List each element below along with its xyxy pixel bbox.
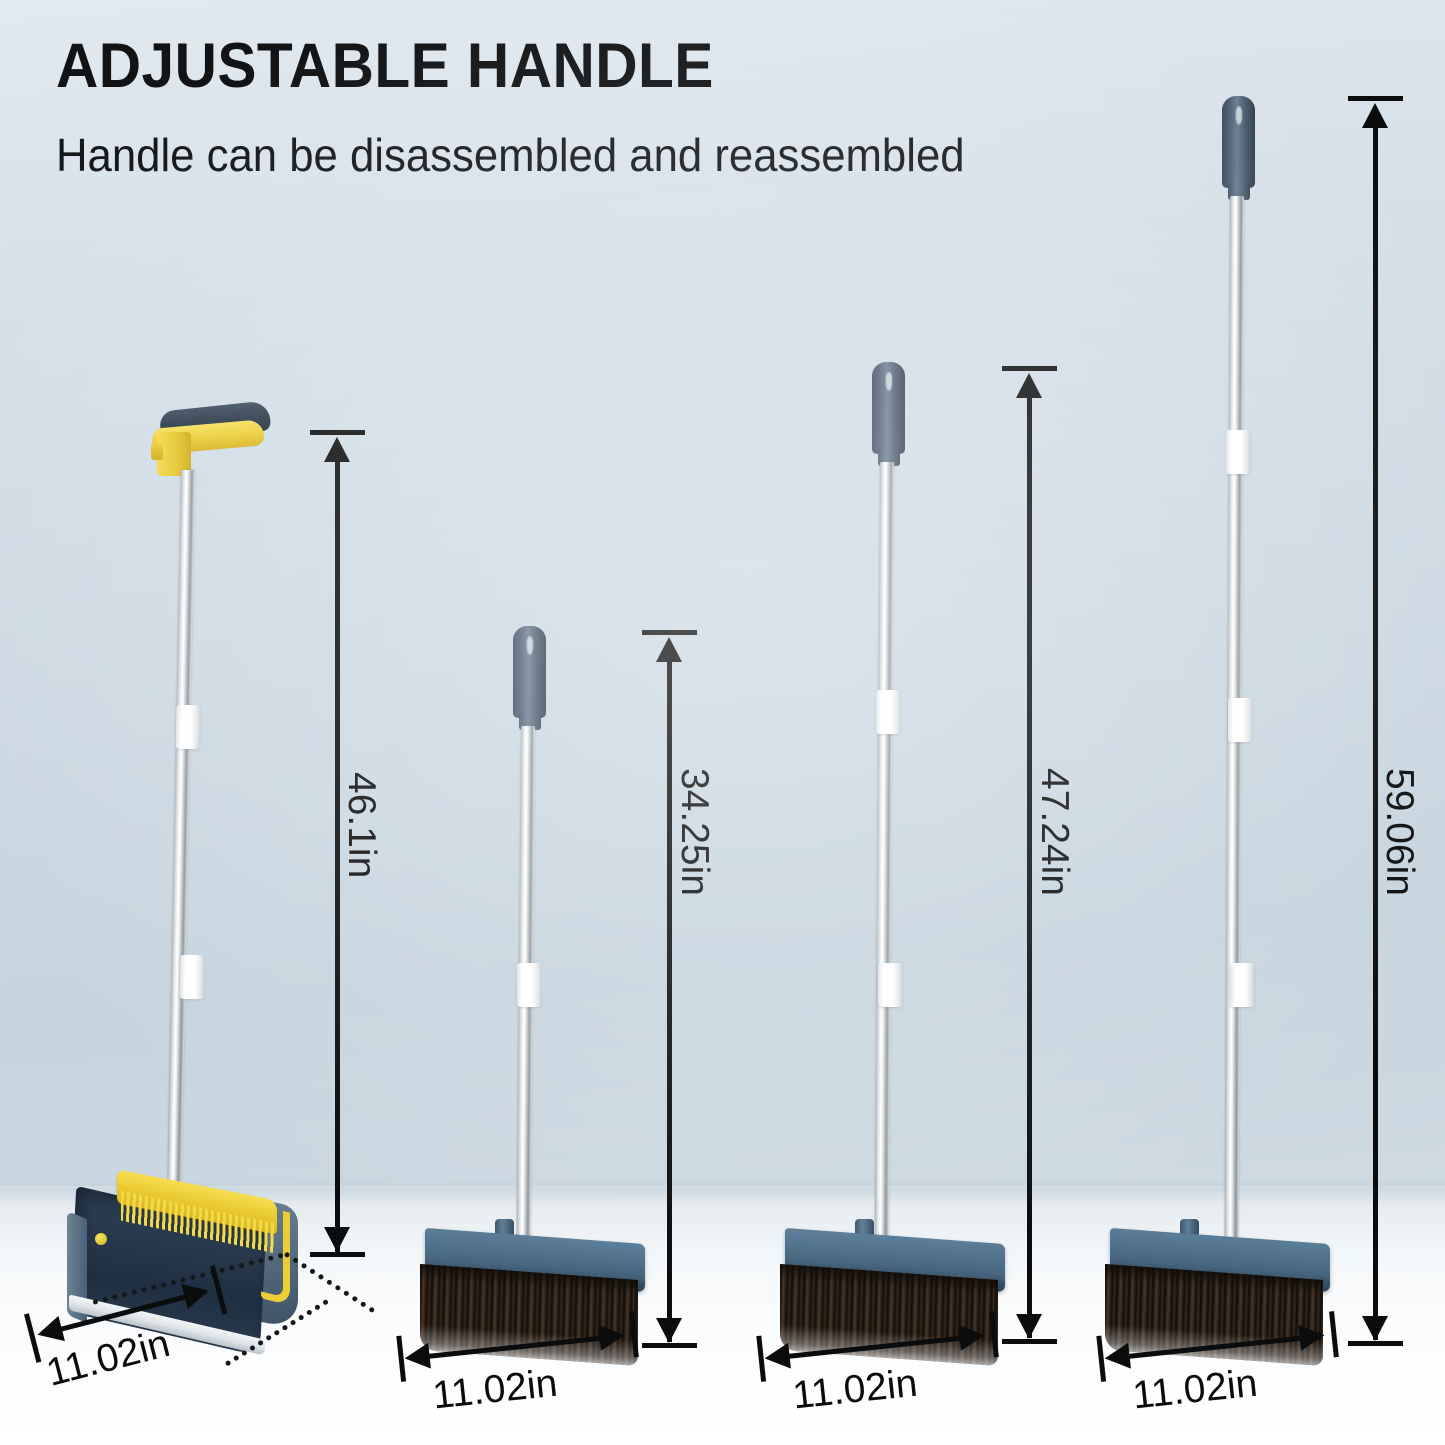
dimension-label-height-dustpan: 46.1in [339,772,383,878]
broom-short-grip [513,626,546,718]
dustpan-knob [95,1233,107,1245]
dimension-label-height-broom-medium: 47.24in [1032,768,1076,896]
broom-medium-pole-collar-2 [878,963,902,1007]
broom-tall-bristles [1105,1264,1323,1366]
broom-tall-pole-collar-1 [1226,430,1250,474]
broom-medium-grip [872,362,905,454]
dustpan-pole-collar-2 [180,955,205,999]
broom-short-pole-collar [517,963,541,1007]
broom-medium-pole-collar-1 [876,690,900,734]
infographic-canvas: ADJUSTABLE HANDLE Handle can be disassem… [0,0,1445,1445]
dimension-label-height-broom-short: 34.25in [672,768,716,896]
broom-tall-grip [1222,96,1255,188]
page-title: ADJUSTABLE HANDLE [56,30,714,102]
broom-tall-pole-collar-3 [1230,963,1254,1007]
dustpan-pole-collar-1 [176,705,201,749]
page-subtitle: Handle can be disassembled and reassembl… [56,128,965,182]
broom-tall-pole-collar-2 [1228,698,1252,742]
dustpan-grip-stub [151,444,163,460]
dimension-label-height-broom-tall: 59.06in [1377,768,1421,896]
